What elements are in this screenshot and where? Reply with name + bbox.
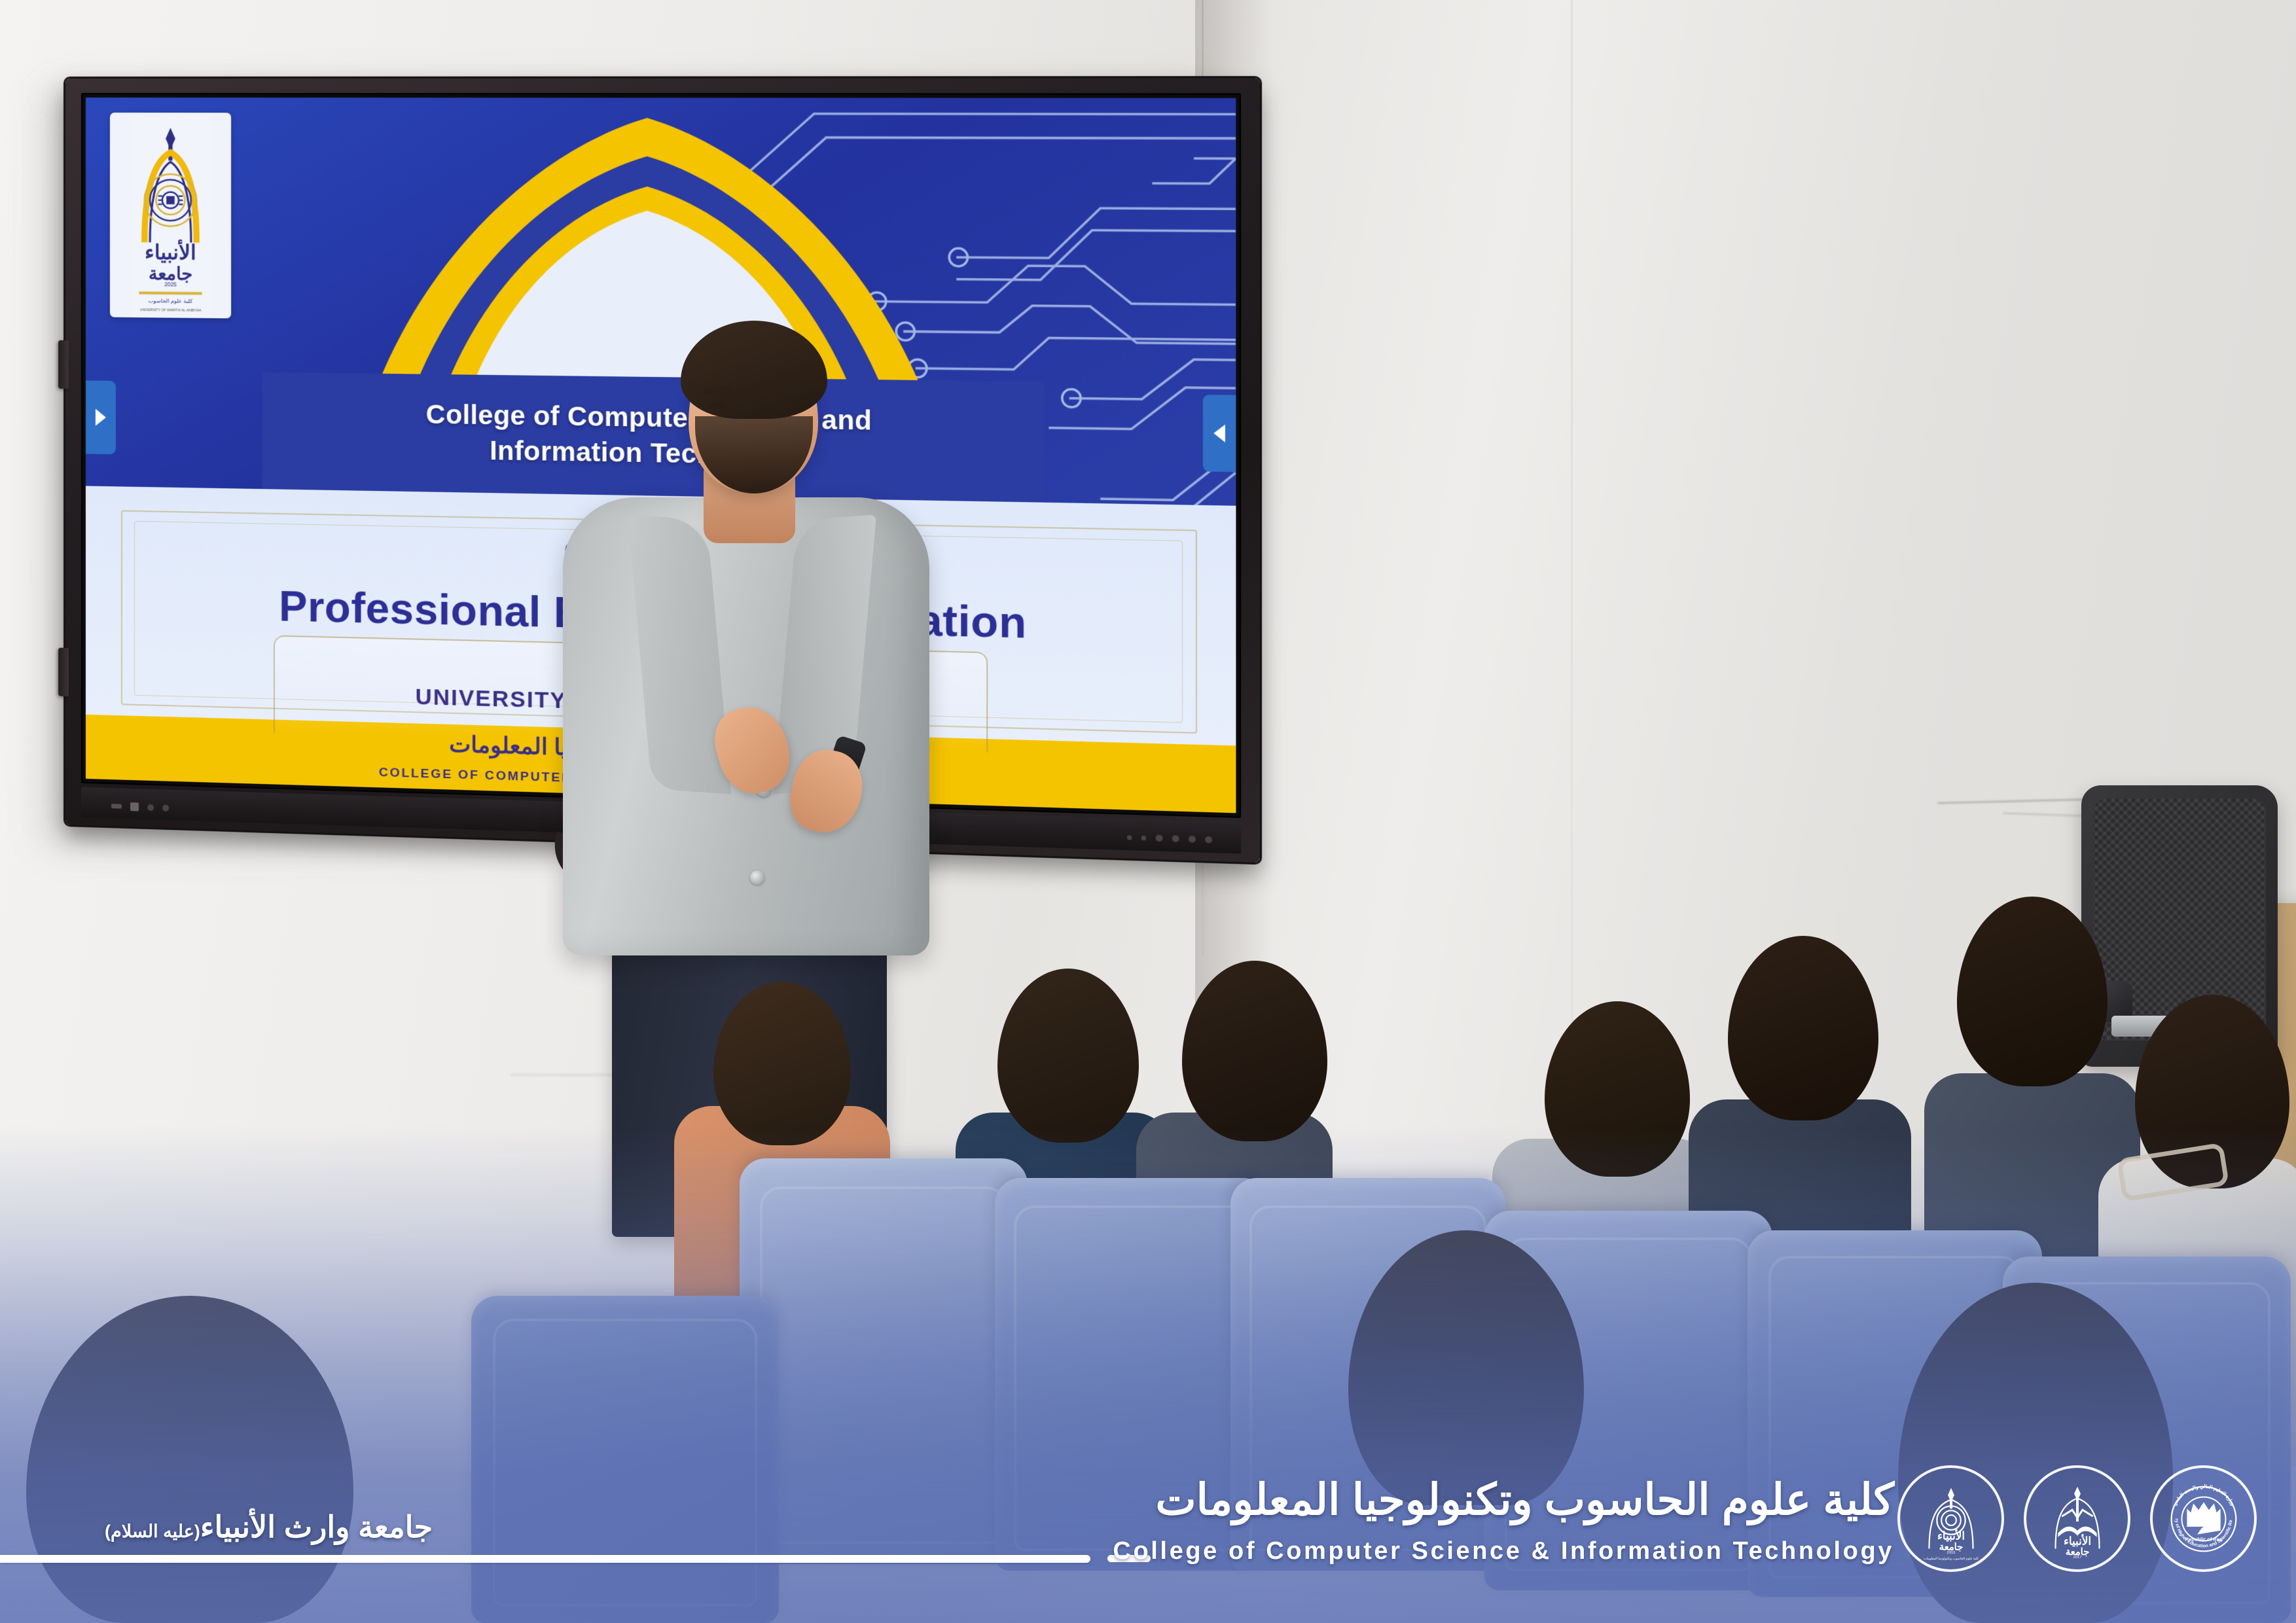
banner-university-ar-text: جامعة وارث الأنبياء [200, 1510, 433, 1544]
chevron-right-icon [96, 408, 106, 425]
bottom-branding-banner: جامعة وارث الأنبياء(عليه السلام) كلية عل… [0, 1427, 2296, 1623]
whiteboard-right-toolbar-toggle[interactable] [1203, 395, 1236, 472]
svg-text:كلية علوم الحاسوب وتكنولوجيا ا: كلية علوم الحاسوب وتكنولوجيا المعلومات [1924, 1557, 1979, 1561]
banner-college-name-ar: كلية علوم الحاسوب وتكنولوجيا المعلومات [1155, 1474, 1894, 1525]
svg-text:2015: 2015 [1946, 1551, 1956, 1555]
svg-text:Republic of Iraq: Republic of Iraq [2185, 1536, 2222, 1542]
display-button[interactable] [1205, 836, 1212, 844]
banner-college-name-en: College of Computer Science & Informatio… [1113, 1537, 1894, 1565]
display-led [1141, 835, 1147, 840]
display-button[interactable] [1189, 836, 1196, 843]
seal-college-of-computer-science: الأنبياء جامعة 2015 كلية علوم الحاسوب وت… [1897, 1465, 2004, 1572]
display-usb-port-icon [130, 802, 139, 811]
seal-ministry-of-higher-education: وزارة التعليم العالي والبحث العلمي Minis… [2150, 1465, 2257, 1572]
display-control-cluster-left[interactable] [111, 802, 169, 812]
svg-text:الأنبياء: الأنبياء [2064, 1533, 2091, 1547]
lecturer-eye [708, 402, 728, 410]
display-status-led [111, 804, 122, 809]
slide-university-logo: الأنبياء جامعة 2025 كلية علوم الحاسوب UN… [110, 113, 232, 318]
banner-divider-line [0, 1555, 1090, 1563]
display-side-button[interactable] [58, 648, 69, 696]
svg-text:2017: 2017 [2073, 1556, 2081, 1560]
display-button[interactable] [1172, 835, 1179, 842]
display-ir-receiver [1127, 835, 1132, 840]
display-power-button[interactable] [147, 804, 154, 810]
display-side-button[interactable] [58, 340, 69, 389]
whiteboard-left-toolbar-toggle[interactable] [86, 380, 116, 454]
slide-header-band: College of Computer Science and Informat… [262, 372, 1045, 503]
display-button[interactable] [1156, 834, 1163, 842]
screenshot-root: College of Computer Science and Informat… [0, 0, 2296, 1623]
banner-seal-group: الأنبياء جامعة 2015 كلية علوم الحاسوب وت… [1897, 1465, 2257, 1572]
seal-university-of-warith-al-anbiyaa: الأنبياء جامعة 2017 [2024, 1465, 2130, 1572]
display-menu-button[interactable] [162, 804, 169, 811]
svg-text:الأنبياء: الأنبياء [1937, 1528, 1965, 1542]
lecturer-jacket-button [750, 870, 764, 885]
svg-text:2025: 2025 [164, 281, 177, 287]
chevron-left-icon [1213, 424, 1225, 442]
lecturer-eye [774, 401, 793, 408]
banner-university-ar-suffix: (عليه السلام) [105, 1522, 200, 1541]
svg-text:كلية علوم الحاسوب: كلية علوم الحاسوب [149, 297, 193, 304]
svg-text:الأنبياء: الأنبياء [145, 238, 196, 264]
svg-text:UNIVERSITY OF WARITH AL-ANBIYA: UNIVERSITY OF WARITH AL-ANBIYAA [140, 308, 202, 313]
banner-university-name-ar: جامعة وارث الأنبياء(عليه السلام) [105, 1509, 433, 1544]
